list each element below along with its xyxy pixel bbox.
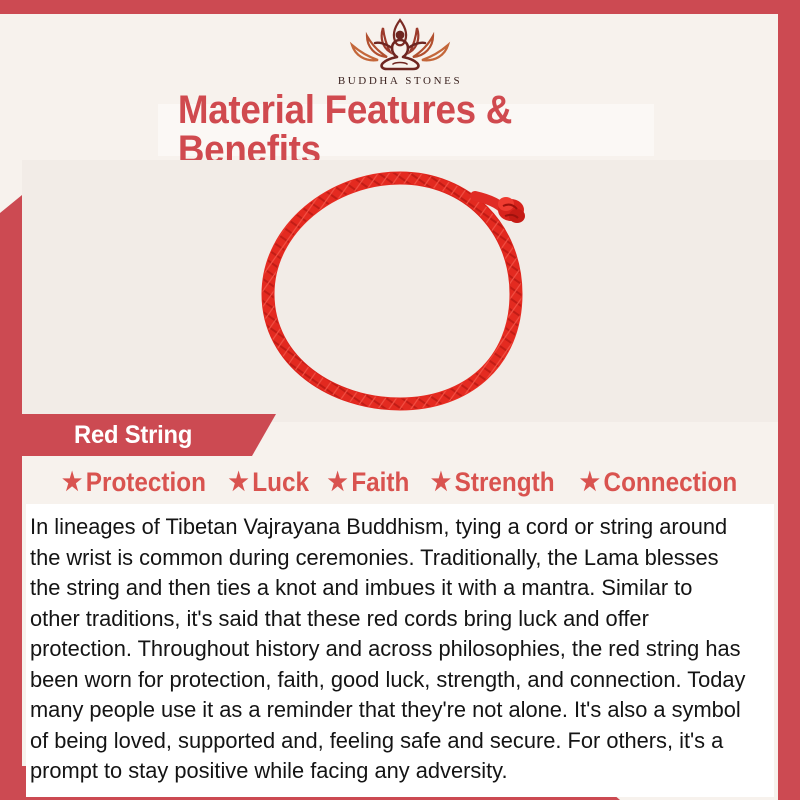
right-accent-bar [778, 0, 800, 800]
infographic-page: BUDDHA STONES Material Features & Benefi… [0, 0, 800, 800]
benefit-item-strength: ★ Strength [431, 467, 555, 498]
description-text: In lineages of Tibetan Vajrayana Buddhis… [30, 512, 748, 787]
red-string-bracelet-photo [235, 166, 565, 416]
benefit-label: Faith [351, 467, 409, 498]
benefit-label: Strength [455, 467, 555, 498]
material-label: Red String [74, 421, 192, 450]
title-band: Material Features & Benefits [158, 104, 654, 156]
lotus-meditation-icon [334, 14, 466, 74]
benefit-label: Luck [252, 467, 309, 498]
description-block: In lineages of Tibetan Vajrayana Buddhis… [26, 504, 774, 797]
benefit-item-faith: ★ Faith [328, 467, 410, 498]
star-icon: ★ [580, 470, 600, 495]
star-icon: ★ [228, 470, 248, 495]
benefits-list: ★ Protection ★ Luck ★ Faith ★ Strength ★… [22, 462, 778, 502]
hero-image [22, 160, 778, 422]
brand-name: BUDDHA STONES [338, 75, 462, 87]
star-icon: ★ [62, 470, 82, 495]
star-icon: ★ [328, 470, 348, 495]
top-accent-bar [0, 0, 800, 14]
page-title: Material Features & Benefits [178, 90, 634, 170]
benefit-item-luck: ★ Luck [228, 467, 309, 498]
star-icon: ★ [431, 470, 451, 495]
material-ribbon: Red String [22, 414, 276, 456]
benefit-label: Connection [604, 467, 738, 498]
left-accent-bar [0, 195, 22, 800]
benefit-item-protection: ★ Protection [62, 467, 206, 498]
benefit-label: Protection [85, 467, 205, 498]
benefit-item-connection: ★ Connection [580, 467, 737, 498]
